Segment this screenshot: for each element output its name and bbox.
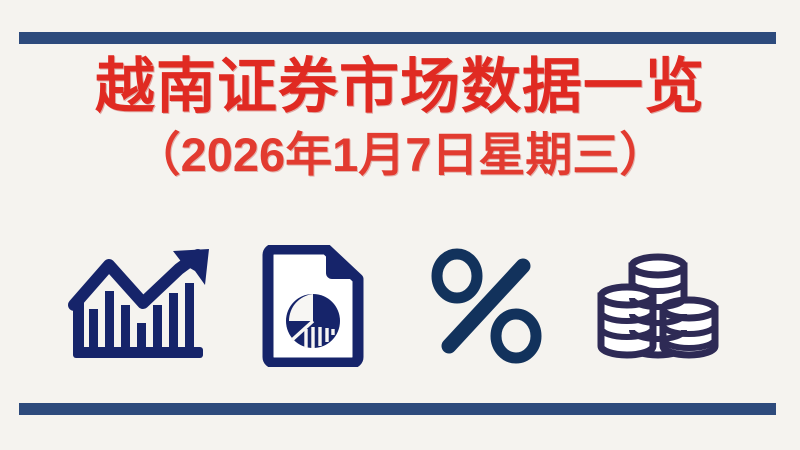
icon-cell-growth-chart	[56, 243, 228, 368]
document-pie-chart-icon	[262, 245, 366, 367]
page-title: 越南证券市场数据一览	[0, 50, 800, 124]
headline-block: 越南证券市场数据一览 （2026年1月7日星期三）	[0, 50, 800, 186]
icon-cell-percent	[400, 243, 572, 368]
percent-icon	[427, 247, 545, 365]
top-divider-bar	[19, 32, 776, 44]
growth-chart-icon	[67, 247, 217, 365]
icon-cell-coin-stacks	[572, 243, 744, 368]
icon-cell-document-pie	[228, 243, 400, 368]
coin-stacks-icon	[597, 246, 719, 366]
icon-row	[0, 243, 800, 368]
bottom-divider-bar	[19, 403, 776, 415]
poster-canvas: 越南证券市场数据一览 （2026年1月7日星期三）	[0, 0, 800, 450]
page-subtitle: （2026年1月7日星期三）	[0, 124, 800, 186]
